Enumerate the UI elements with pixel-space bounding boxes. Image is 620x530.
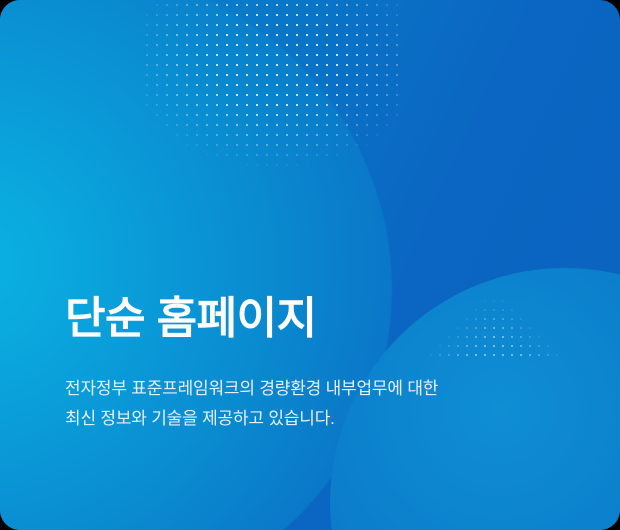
hero-subtitle-line-2: 최신 정보와 기술을 제공하고 있습니다. [65, 404, 585, 434]
hero-content: 단순 홈페이지 전자정부 표준프레임워크의 경량환경 내부업무에 대한 최신 정… [65, 292, 585, 434]
hero-subtitle-line-1: 전자정부 표준프레임워크의 경량환경 내부업무에 대한 [65, 374, 585, 404]
page-title: 단순 홈페이지 [65, 292, 585, 346]
hero-subtitle: 전자정부 표준프레임워크의 경량환경 내부업무에 대한 최신 정보와 기술을 제… [65, 374, 585, 434]
hero-banner: 단순 홈페이지 전자정부 표준프레임워크의 경량환경 내부업무에 대한 최신 정… [0, 0, 620, 530]
decorative-circle-top-left [0, 0, 392, 530]
